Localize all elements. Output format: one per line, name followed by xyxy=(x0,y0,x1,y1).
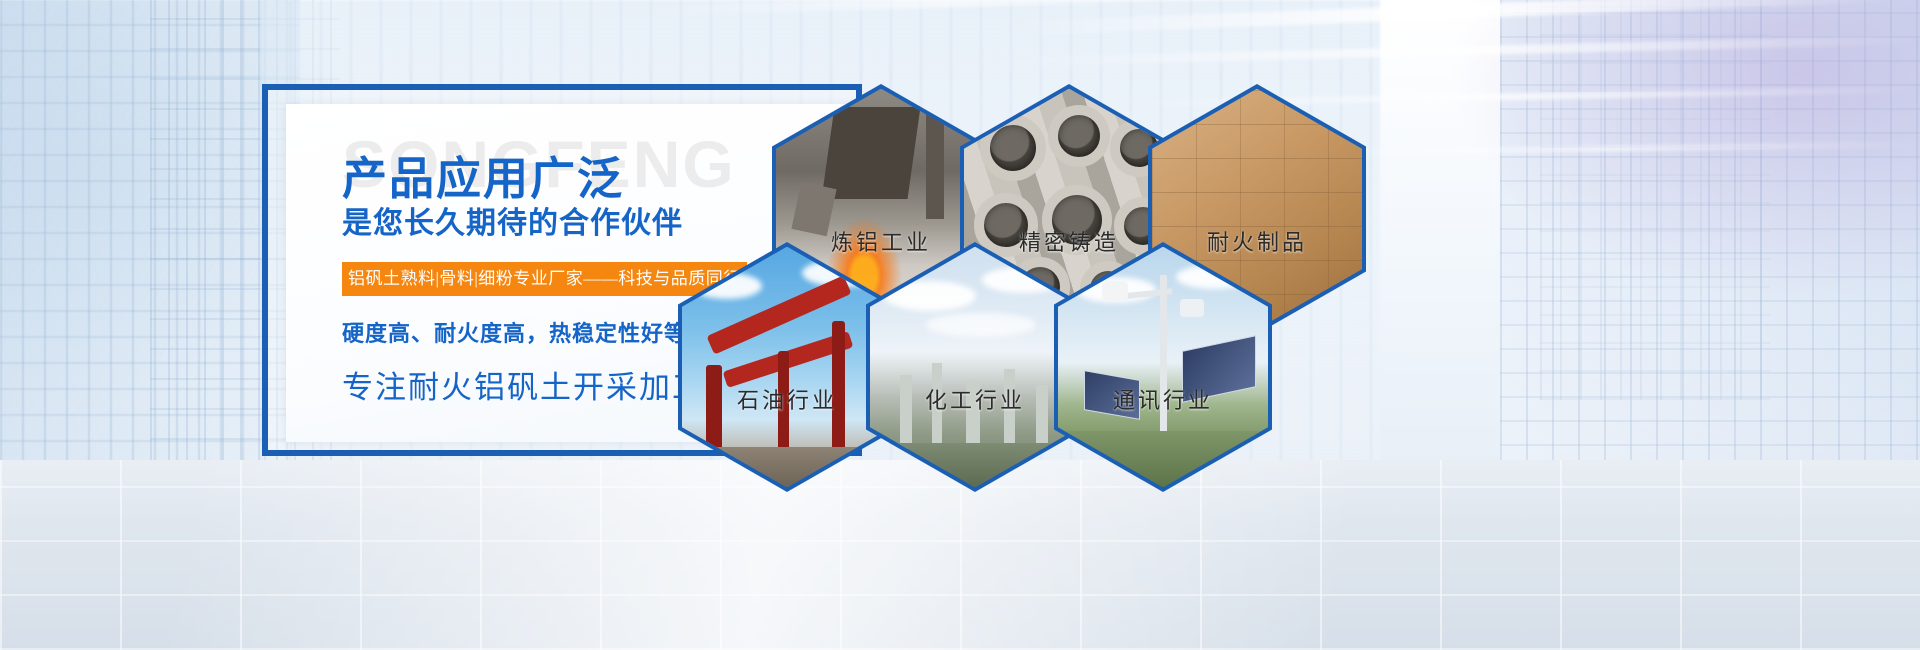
subheadline-text: 是您长久期待的合作伙伴 xyxy=(342,198,683,242)
hexagon-label: 通讯行业 xyxy=(1058,383,1268,415)
hexagon-label: 石油行业 xyxy=(682,383,892,415)
industry-hexagon-cluster: 炼铝工业 精密铸造 耐火制品 xyxy=(666,84,1306,554)
tagline-text: 专注耐火铝矾土开采加工 xyxy=(342,362,705,407)
hexagon-label: 精密铸造 xyxy=(964,225,1174,257)
hexagon-label: 化工行业 xyxy=(870,383,1080,415)
hexagon-label: 炼铝工业 xyxy=(776,225,986,257)
hexagon-label: 耐火制品 xyxy=(1152,225,1362,257)
